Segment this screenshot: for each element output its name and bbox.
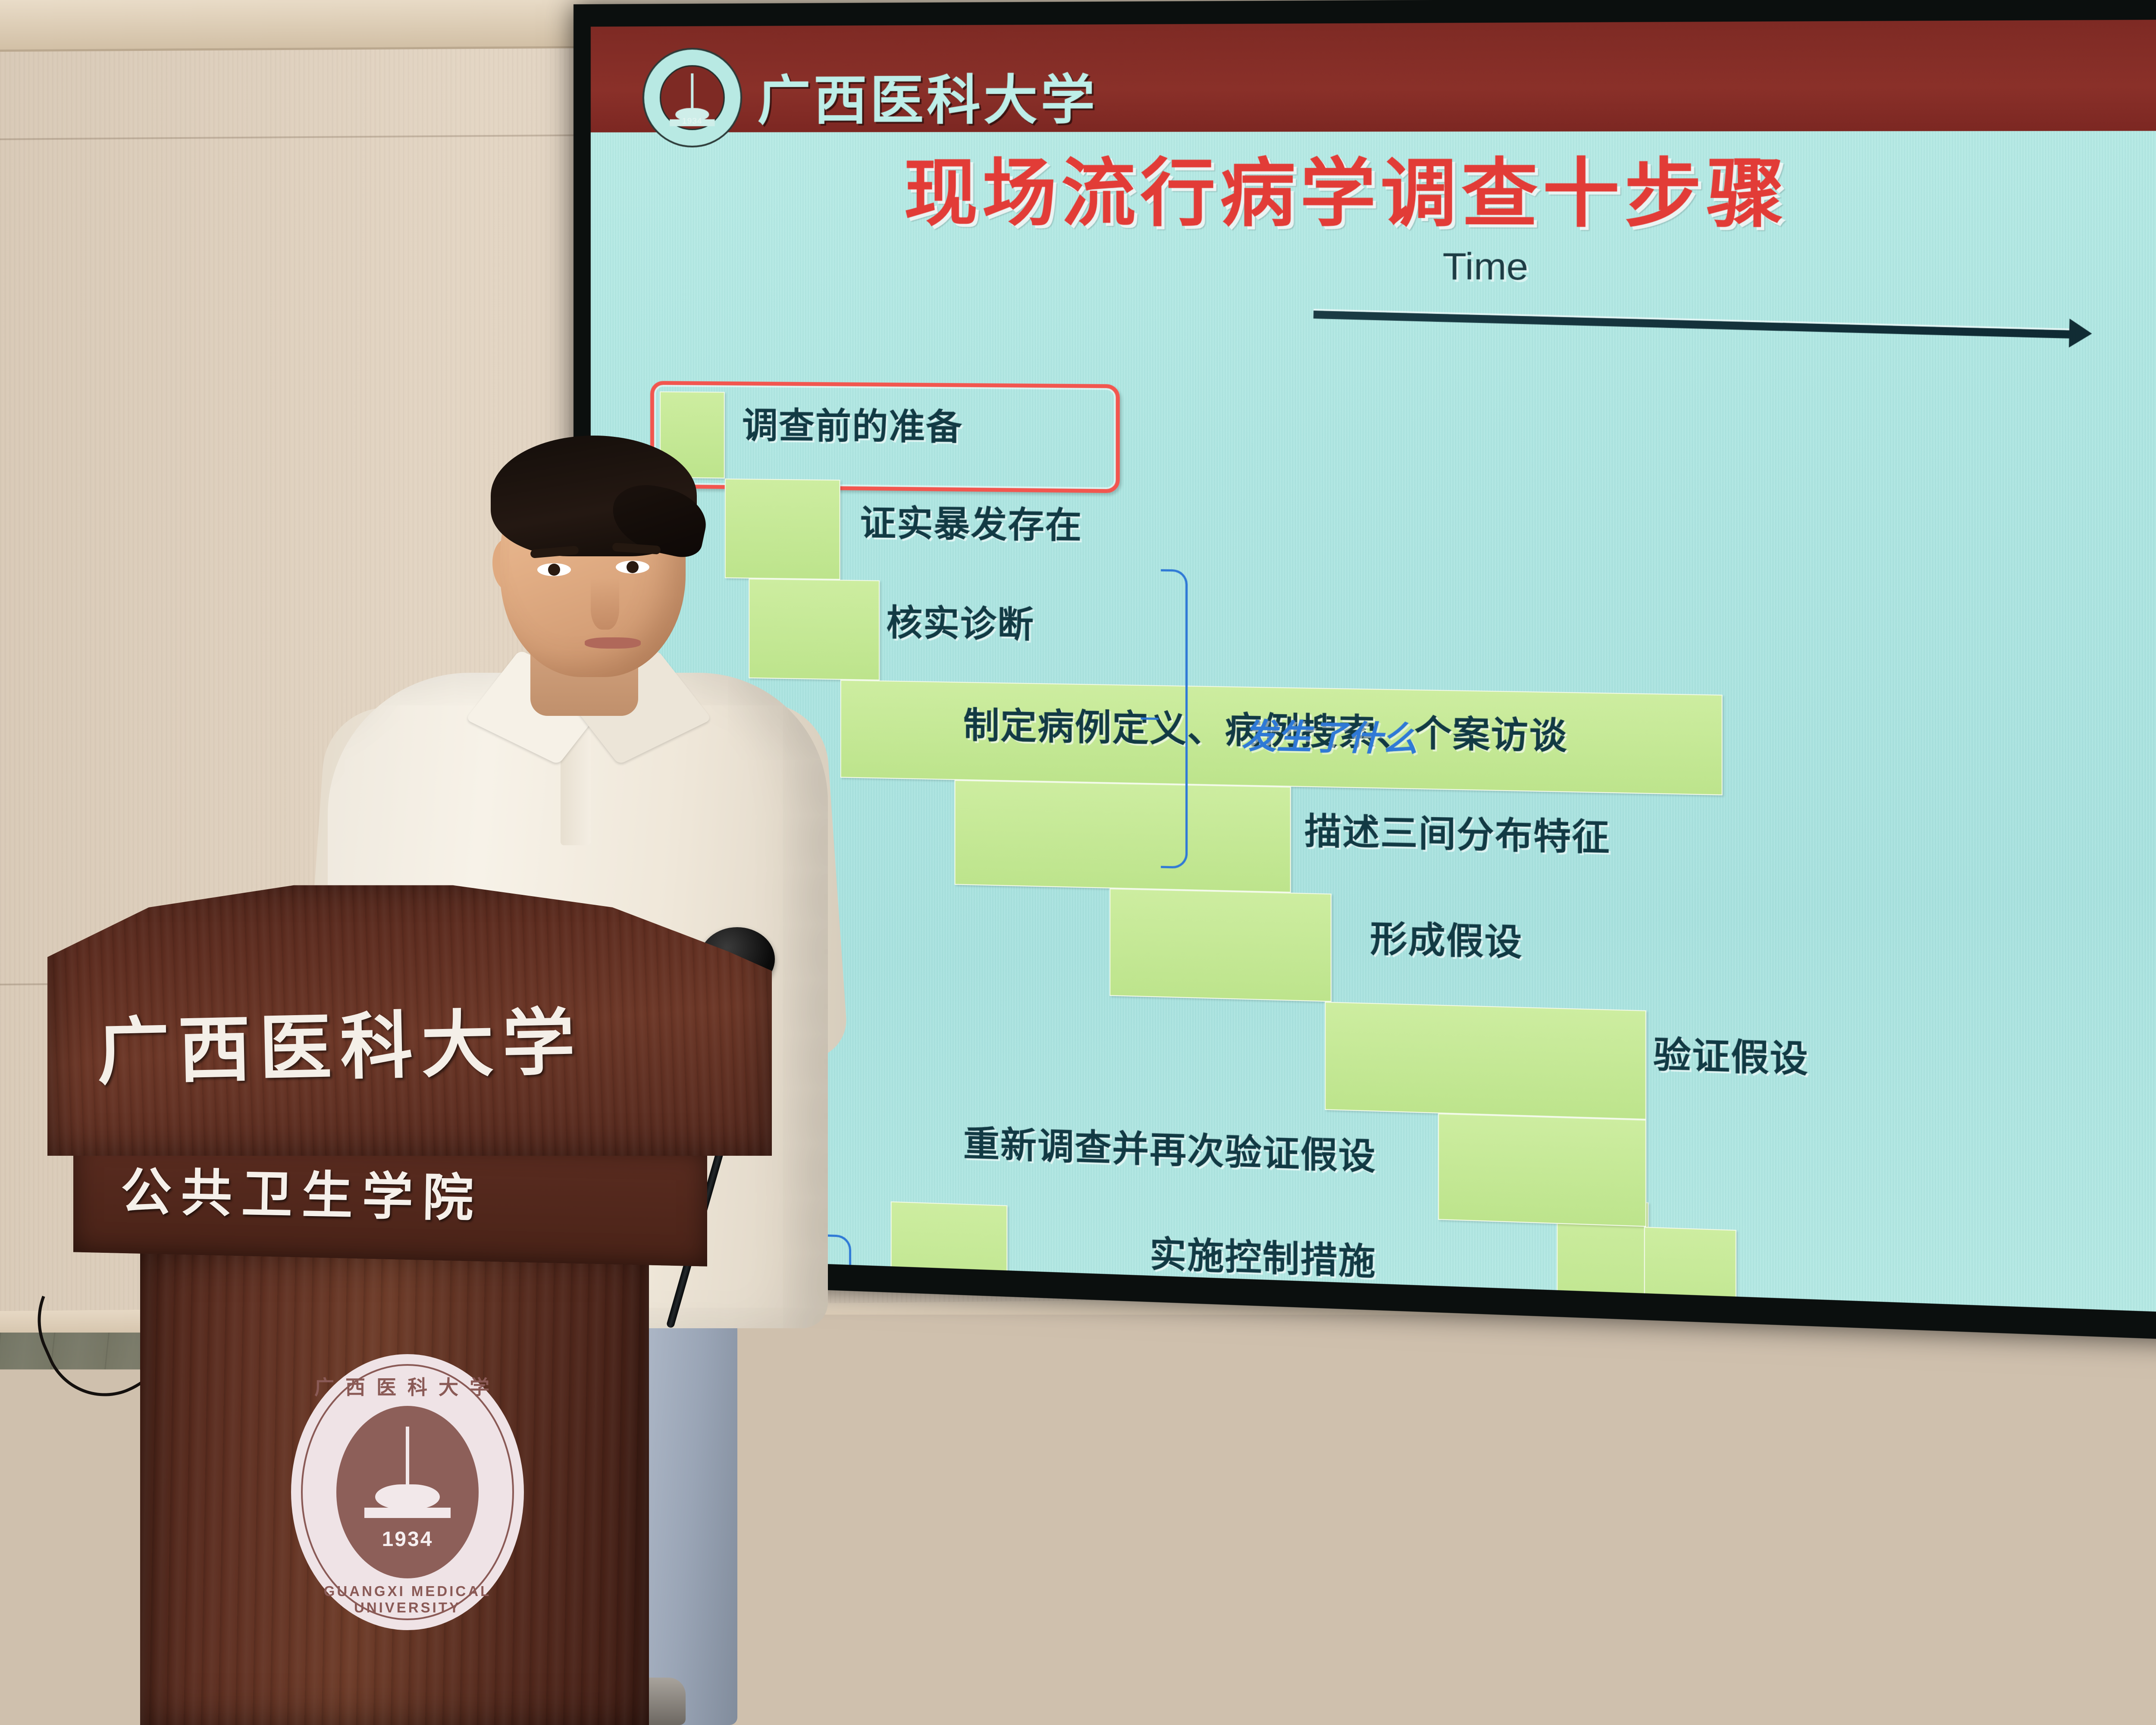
lectern-school-name: 公共卫生学院: [120, 1166, 483, 1224]
lectern: 广西医科大学 1934 GUANGXI MEDICAL UNIVERSITY 公…: [47, 880, 772, 1725]
step-label-5: 描述三间分布特征: [1304, 813, 1611, 856]
bracket-what-happened-icon: [1161, 569, 1188, 869]
presenter-hair: [491, 436, 697, 556]
gantt-bar-step-6: [1109, 888, 1332, 1002]
gantt-bar-step-8: [1438, 1113, 1646, 1227]
group-label-what-happened: 发生了什么: [1241, 720, 1417, 756]
lectern-emblem-icon: 广西医科大学 1934 GUANGXI MEDICAL UNIVERSITY: [291, 1354, 524, 1630]
emblem-name-en: GUANGXI MEDICAL UNIVERSITY: [294, 1583, 521, 1616]
gantt-bar-step-7: [1325, 1002, 1646, 1120]
step-label-6: 形成假设: [1370, 921, 1523, 961]
lectern-column: 广西医科大学 1934 GUANGXI MEDICAL UNIVERSITY: [140, 1251, 649, 1725]
emblem-year-value: 1934: [336, 1527, 479, 1551]
presenter-nose: [591, 578, 619, 630]
emblem-name-cn: 广西医科大学: [294, 1372, 521, 1400]
presenter-mouth: [585, 637, 641, 649]
gantt-bar-step-5: [955, 780, 1291, 893]
step-label-9: 实施控制措施: [1150, 1236, 1376, 1280]
step-label-8: 重新调查并再次验证假设: [963, 1126, 1376, 1175]
step-label-7: 验证假设: [1653, 1036, 1809, 1077]
lectern-university-name: 广西医科大学: [96, 1003, 727, 1088]
step-label-3: 核实诊断: [886, 605, 1034, 643]
step-label-2: 证实暴发存在: [860, 505, 1082, 543]
lecture-hall-photo: 1934 广西医科大学 现场流行病学调查十步骤 Time 调查前的准备证实暴发存…: [0, 0, 2156, 1725]
presenter-eye-left: [537, 563, 571, 576]
presenter-eye-right: [616, 561, 649, 574]
